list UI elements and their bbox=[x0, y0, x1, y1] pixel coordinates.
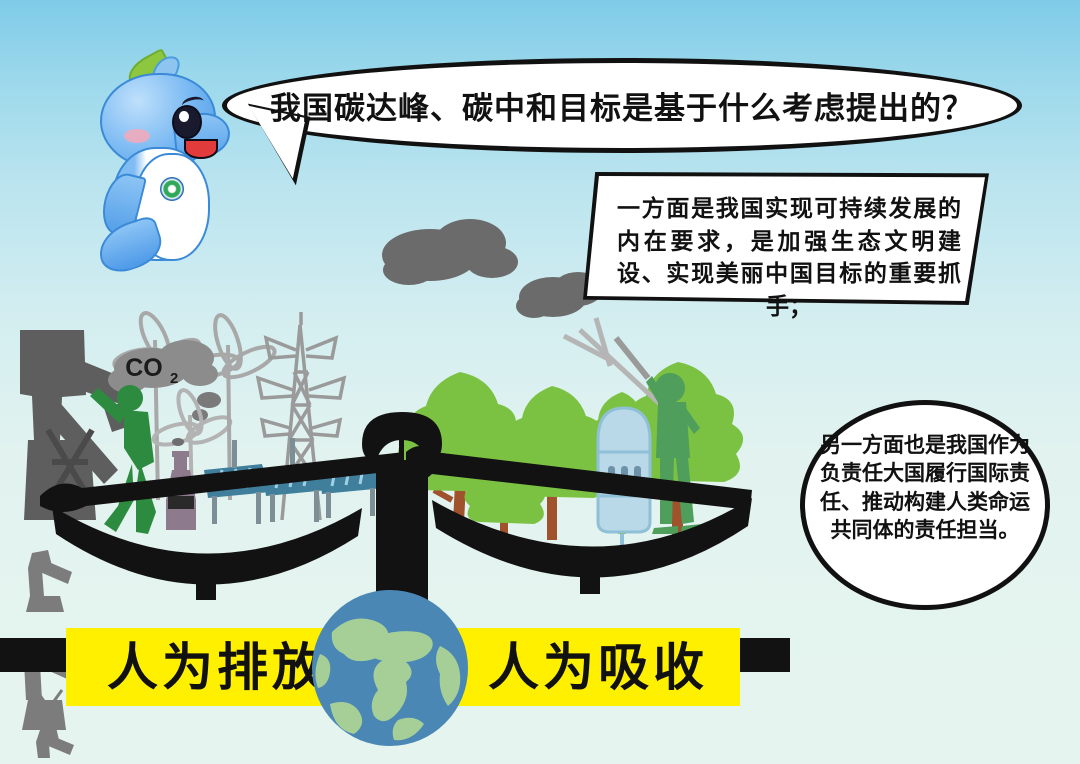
mascot-cheek bbox=[124, 129, 150, 143]
co2-cloud: CO 2 bbox=[108, 340, 218, 393]
banner-right-label: 人为吸收 bbox=[488, 642, 708, 693]
note-box-2-text: 另一方面也是我国作为负责任大国履行国际责任、推动构建人类命运共同体的责任担当。 bbox=[818, 432, 1032, 545]
pumpjack-silhouette-tiny bbox=[36, 727, 74, 758]
pumpjack-silhouette-small bbox=[26, 550, 72, 612]
pole-handle bbox=[616, 338, 648, 378]
co2-label: CO bbox=[125, 354, 163, 382]
smoke-cloud bbox=[382, 219, 518, 285]
speech-bubble: 我国碳达峰、碳中和目标是基于什么考虑提出的？ bbox=[222, 58, 1022, 153]
mascot-eye bbox=[172, 105, 202, 139]
speech-bubble-text: 我国碳达峰、碳中和目标是基于什么考虑提出的？ bbox=[222, 58, 1022, 153]
note-box-sustainable-development: 一方面是我国实现可持续发展的内在要求，是加强生态文明建设、实现美丽中国目标的重要… bbox=[583, 172, 989, 305]
mascot-chest-badge-icon bbox=[160, 177, 184, 201]
banner-left-label: 人为排放 bbox=[107, 642, 327, 693]
co2-subscript: 2 bbox=[170, 370, 178, 387]
mascot-dolphin bbox=[96, 55, 226, 270]
infographic-poster: CO 2 bbox=[0, 0, 1080, 764]
note-box-1-text: 一方面是我国实现可持续发展的内在要求，是加强生态文明建设、实现美丽中国目标的重要… bbox=[617, 192, 961, 323]
earth-globe bbox=[310, 588, 470, 748]
banner-anthropogenic-absorption: 人为吸收 bbox=[424, 628, 740, 706]
wind-turbine-blade bbox=[564, 318, 660, 404]
note-box-international-responsibility: 另一方面也是我国作为负责任大国履行国际责任、推动构建人类命运共同体的责任担当。 bbox=[800, 400, 1050, 610]
